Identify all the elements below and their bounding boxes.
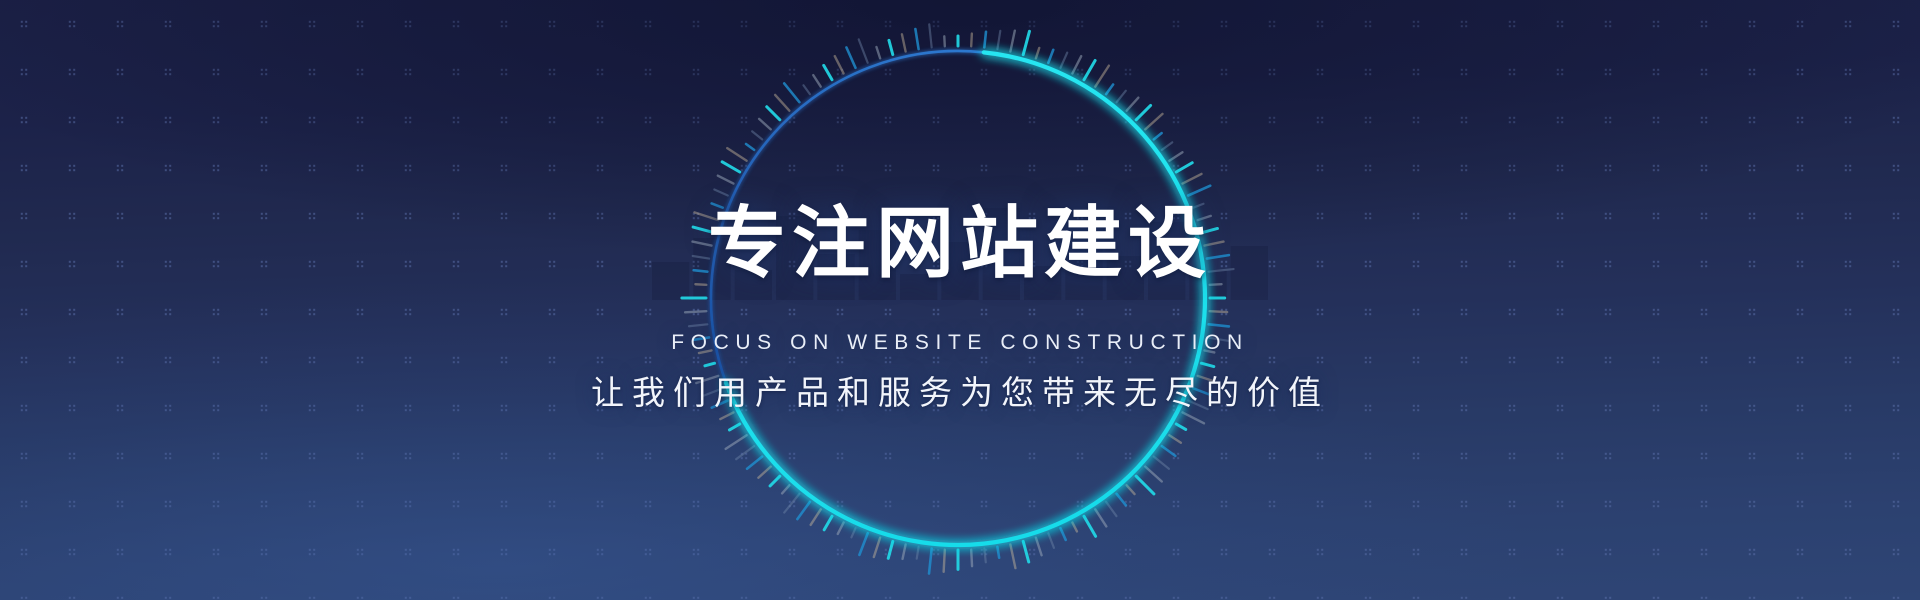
- subtitle-english: FOCUS ON WEBSITE CONSTRUCTION: [0, 330, 1920, 356]
- ring-tick-marks: [682, 24, 1234, 573]
- lower-glow-overlay: [0, 240, 1920, 600]
- page-title: 专注网站建设: [0, 196, 1920, 292]
- dot-grid-pattern: [0, 0, 1920, 600]
- tagline-chinese: 让我们用产品和服务为您带来无尽的价值: [0, 371, 1920, 415]
- ring-bright-arc: [726, 52, 1205, 545]
- hero-banner: 专注网站建设 FOCUS ON WEBSITE CONSTRUCTION 让我们…: [0, 0, 1920, 600]
